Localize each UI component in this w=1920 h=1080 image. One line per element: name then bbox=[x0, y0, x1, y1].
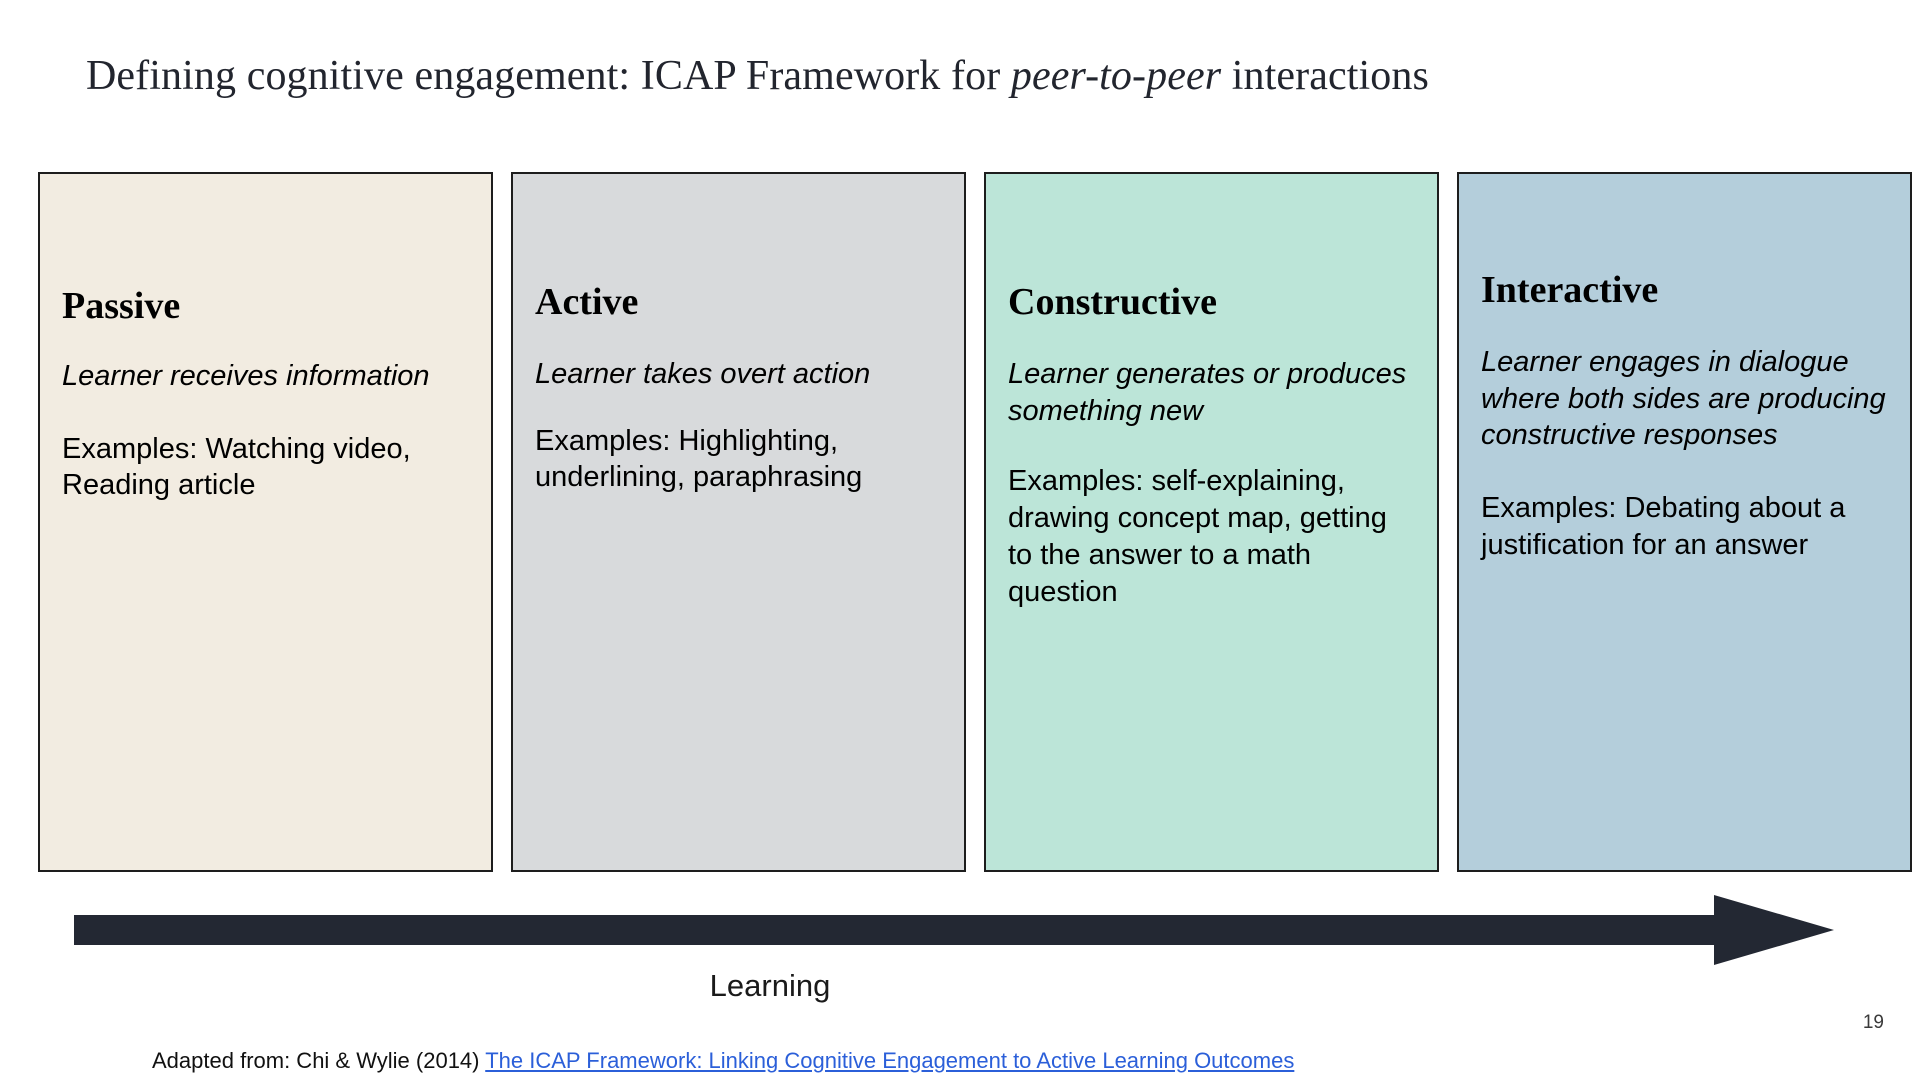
right-arrow-icon bbox=[74, 895, 1834, 965]
card-active-heading: Active bbox=[535, 282, 942, 324]
card-constructive-heading: Constructive bbox=[1008, 282, 1415, 324]
card-interactive-examples: Examples: Debating about a justification… bbox=[1481, 490, 1888, 564]
icap-source-link[interactable]: The ICAP Framework: Linking Cognitive En… bbox=[485, 1048, 1294, 1073]
icap-cards-row: Passive Learner receives information Exa… bbox=[38, 172, 1880, 872]
footer-attribution-text: Adapted from: Chi & Wylie (2014) bbox=[152, 1048, 485, 1073]
card-passive-heading: Passive bbox=[62, 286, 469, 328]
card-passive-examples: Examples: Watching video, Reading articl… bbox=[62, 431, 469, 505]
footer-attribution: Adapted from: Chi & Wylie (2014) The ICA… bbox=[152, 1048, 1294, 1074]
card-constructive-definition: Learner generates or produces something … bbox=[1008, 356, 1415, 430]
page-title: Defining cognitive engagement: ICAP Fram… bbox=[86, 52, 1786, 100]
card-interactive-heading: Interactive bbox=[1481, 270, 1888, 312]
page-title-emphasis: peer-to-peer bbox=[1011, 53, 1221, 99]
arrow-label: Learning bbox=[0, 968, 1540, 1004]
card-passive-definition: Learner receives information bbox=[62, 358, 469, 395]
page-title-part1: Defining cognitive engagement: ICAP Fram… bbox=[86, 53, 1011, 99]
card-constructive: Constructive Learner generates or produc… bbox=[984, 172, 1439, 872]
card-interactive: Interactive Learner engages in dialogue … bbox=[1457, 172, 1912, 872]
slide-canvas: Defining cognitive engagement: ICAP Fram… bbox=[0, 0, 1920, 1080]
learning-arrow bbox=[74, 895, 1834, 965]
page-number: 19 bbox=[1863, 1012, 1884, 1034]
card-interactive-definition: Learner engages in dialogue where both s… bbox=[1481, 344, 1888, 454]
card-passive: Passive Learner receives information Exa… bbox=[38, 172, 493, 872]
card-active-examples: Examples: Highlighting, underlining, par… bbox=[535, 423, 942, 497]
card-active-definition: Learner takes overt action bbox=[535, 356, 942, 393]
card-active: Active Learner takes overt action Exampl… bbox=[511, 172, 966, 872]
page-title-part2: interactions bbox=[1221, 53, 1429, 99]
card-constructive-examples: Examples: self-explaining, drawing conce… bbox=[1008, 463, 1415, 610]
